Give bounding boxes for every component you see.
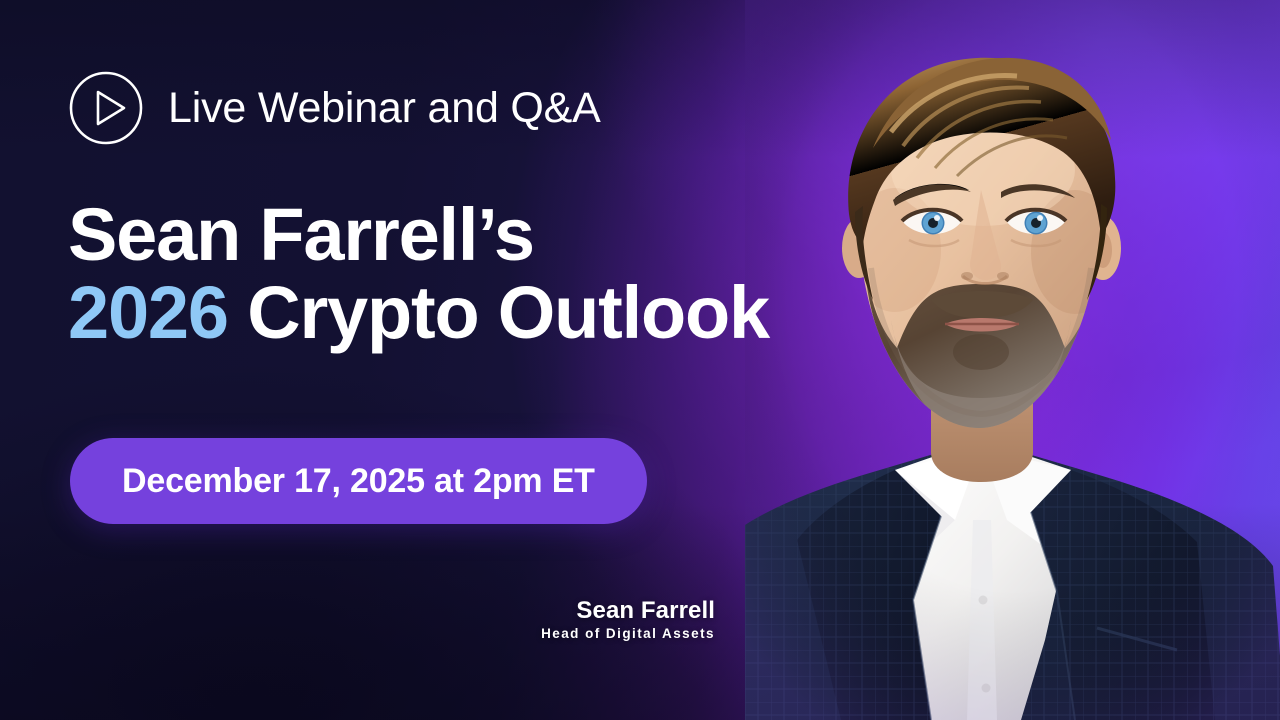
webinar-date-badge[interactable]: December 17, 2025 at 2pm ET [70,438,647,524]
speaker-portrait [745,0,1280,720]
eyebrow-label: Live Webinar and Q&A [168,87,601,130]
play-circle-icon [68,70,144,146]
headline-spacer [228,271,247,354]
webinar-date-label: December 17, 2025 at 2pm ET [122,462,595,501]
headline-line-1: Sean Farrell’s [68,196,769,274]
speaker-role: Head of Digital Assets [541,627,715,642]
headline-line-2: 2026 Crypto Outlook [68,274,769,352]
headline-year-accent: 2026 [68,271,228,354]
webinar-promo-banner: Live Webinar and Q&A Sean Farrell’s 2026… [0,0,1280,720]
page-title: Sean Farrell’s 2026 Crypto Outlook [68,196,769,353]
speaker-caption: Sean Farrell Head of Digital Assets [541,598,715,642]
headline-line-2-rest: Crypto Outlook [247,271,769,354]
speaker-name: Sean Farrell [541,598,715,624]
eyebrow-row: Live Webinar and Q&A [68,70,601,146]
